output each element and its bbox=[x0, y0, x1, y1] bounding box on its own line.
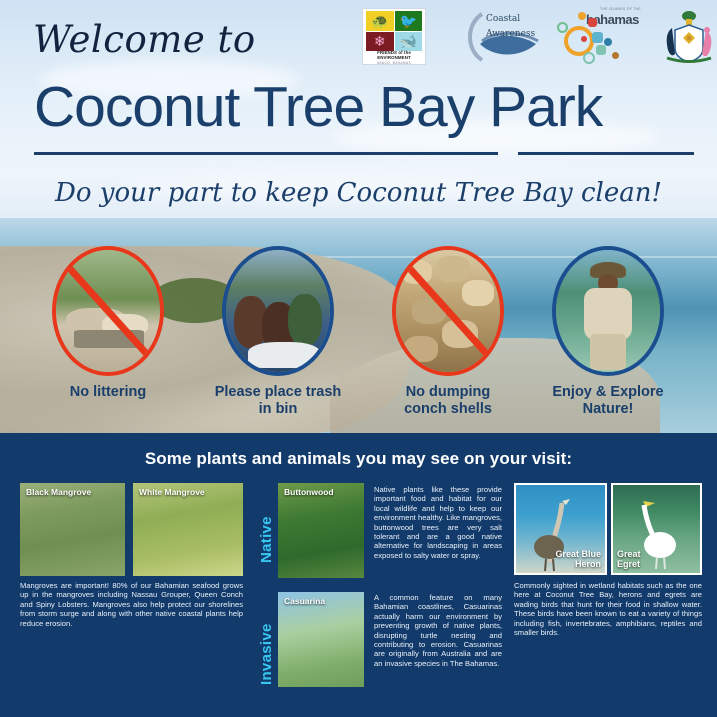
rule-caption: No dumping conch shells bbox=[378, 384, 518, 418]
bahamas-logo-tagline: THE ISLANDS OF THE bbox=[600, 7, 641, 11]
children-photo bbox=[226, 250, 330, 372]
rule-caption: No littering bbox=[38, 384, 178, 401]
divider-segment-left bbox=[34, 152, 498, 155]
page-title: Coconut Tree Bay Park bbox=[34, 76, 694, 138]
rule-caption: Enjoy & Explore Nature! bbox=[538, 384, 678, 418]
nature-photo-ring bbox=[552, 246, 664, 376]
bahamas-tourism-logo: THE ISLANDS OF THE bahamas bbox=[556, 8, 646, 66]
logo-dot bbox=[592, 32, 603, 43]
casuarina-photo[interactable]: Casuarina bbox=[278, 592, 364, 687]
whale-icon: 🐋 bbox=[395, 32, 423, 52]
photo-label: Great Blue Heron bbox=[555, 549, 601, 569]
trash-bin-photo-ring bbox=[222, 246, 334, 376]
subtitle-text: Do your part to keep Coconut Tree Bay cl… bbox=[0, 178, 717, 208]
photo-detail bbox=[248, 342, 320, 368]
bahamas-coat-of-arms-logo bbox=[662, 8, 716, 66]
photo-label: Buttonwood bbox=[284, 487, 334, 497]
logo-dot bbox=[612, 52, 619, 59]
great-blue-heron-photo: Great Blue Heron bbox=[516, 485, 605, 573]
buttonwood-photo[interactable]: Buttonwood bbox=[278, 483, 364, 578]
logo-dot bbox=[581, 36, 587, 42]
coat-of-arms-icon bbox=[662, 8, 716, 66]
foe-logo-subtext: ABACO, BAHAMAS bbox=[363, 61, 425, 65]
great-blue-heron-photo-frame[interactable]: Great Blue Heron bbox=[514, 483, 607, 575]
flower-icon: ❄ bbox=[366, 32, 394, 52]
white-mangrove-photo[interactable]: White Mangrove bbox=[133, 483, 243, 576]
logo-dot bbox=[557, 22, 568, 33]
rule-item-no-dumping-conch[interactable]: No dumping conch shells bbox=[378, 246, 518, 418]
logo-dot bbox=[588, 18, 597, 27]
photo-detail bbox=[462, 280, 494, 306]
logo-strip: 🐢 🐦 ❄ 🐋 FRIENDS of the ENVIRONMENT ABACO… bbox=[362, 6, 712, 68]
title-divider bbox=[34, 152, 694, 156]
bird-icon: 🐦 bbox=[395, 11, 423, 31]
logo-dot bbox=[578, 12, 586, 20]
native-vertical-label: Native bbox=[258, 493, 275, 563]
great-egret-photo: Great Egret bbox=[613, 485, 700, 573]
friends-of-the-environment-logo: 🐢 🐦 ❄ 🐋 FRIENDS of the ENVIRONMENT ABACO… bbox=[362, 8, 426, 65]
photo-detail bbox=[584, 288, 632, 340]
logo-dot bbox=[583, 52, 595, 64]
panel-title: Some plants and animals you may see on y… bbox=[0, 449, 717, 469]
rule-item-no-littering[interactable]: No littering bbox=[38, 246, 178, 401]
poster-root: Welcome to Coconut Tree Bay Park Do your… bbox=[0, 0, 717, 717]
rules-icon-row: No littering Please place trash in bin bbox=[0, 246, 717, 376]
header-sky: Welcome to Coconut Tree Bay Park Do your… bbox=[0, 0, 717, 218]
coastal-logo-line1: Coastal bbox=[486, 14, 520, 24]
info-panel: Some plants and animals you may see on y… bbox=[0, 433, 717, 717]
rule-item-place-trash-in-bin[interactable]: Please place trash in bin bbox=[208, 246, 348, 418]
invasive-plants-description: A common feature on many Bahamian coastl… bbox=[374, 593, 502, 668]
photo-label: Casuarina bbox=[284, 596, 325, 606]
native-plants-description: Native plants like these provide importa… bbox=[374, 485, 502, 560]
conch-photo-ring bbox=[392, 246, 504, 376]
photo-label: Black Mangrove bbox=[26, 487, 91, 497]
photo-label: Great Egret bbox=[617, 549, 641, 569]
turtle-icon: 🐢 bbox=[366, 11, 394, 31]
great-egret-photo-frame[interactable]: Great Egret bbox=[611, 483, 702, 575]
photo-detail bbox=[404, 336, 438, 362]
no-littering-photo-ring bbox=[52, 246, 164, 376]
mangrove-description: Mangroves are important! 80% of our Baha… bbox=[20, 581, 243, 628]
logo-dot bbox=[596, 45, 606, 55]
divider-segment-right bbox=[518, 152, 694, 155]
invasive-vertical-label: Invasive bbox=[258, 605, 275, 685]
coastal-awareness-logo: Coastal Awareness bbox=[460, 10, 544, 64]
photo-detail bbox=[590, 334, 626, 370]
photo-detail bbox=[288, 294, 322, 346]
foe-logo-grid: 🐢 🐦 ❄ 🐋 bbox=[366, 11, 422, 51]
welcome-text: Welcome to bbox=[33, 18, 256, 61]
coastal-logo-line2: Awareness bbox=[486, 29, 535, 39]
foe-logo-text: FRIENDS of the ENVIRONMENT bbox=[363, 50, 425, 60]
guide-photo bbox=[556, 250, 660, 372]
rule-item-enjoy-explore-nature[interactable]: Enjoy & Explore Nature! bbox=[538, 246, 678, 418]
rule-caption: Please place trash in bin bbox=[208, 384, 348, 418]
black-mangrove-photo[interactable]: Black Mangrove bbox=[20, 483, 125, 576]
logo-dot bbox=[604, 38, 612, 46]
photo-detail bbox=[436, 256, 470, 282]
birds-description: Commonly sighted in wetland habitats suc… bbox=[514, 581, 702, 637]
photo-label: White Mangrove bbox=[139, 487, 205, 497]
